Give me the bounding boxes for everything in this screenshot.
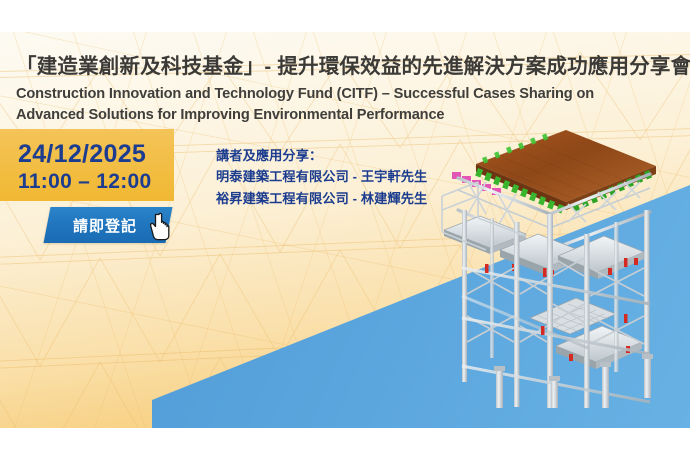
page-title-en-line1: Construction Innovation and Technology F… [16,84,671,105]
red-tag [608,268,612,275]
event-time: 11:00 – 12:00 [18,171,152,192]
top-white-band [0,0,690,32]
event-banner: 「建造業創新及科技基金」- 提升環保效益的先進解決方案成功應用分享會 Const… [0,0,690,460]
register-button[interactable] [44,207,173,243]
speakers-block: 講者及應用分享： 明泰建築工程有限公司 - 王宇軒先生 裕昇建築工程有限公司 -… [216,145,427,209]
page-title-en-line2: Advanced Solutions for Improving Environ… [16,105,671,126]
red-tag [634,258,638,265]
formwork-scaffolding-3d-render [438,118,690,408]
bottom-white-band [0,428,690,460]
timber-deck [476,130,656,210]
red-tag [569,354,573,361]
speaker-item: 明泰建築工程有限公司 - 王宇軒先生 [216,166,427,187]
title-block: 「建造業創新及科技基金」- 提升環保效益的先進解決方案成功應用分享會 Const… [16,54,671,126]
speakers-heading: 講者及應用分享： [216,145,427,166]
event-date: 24/12/2025 [18,142,146,167]
page-title-zh: 「建造業創新及科技基金」- 提升環保效益的先進解決方案成功應用分享會 [16,54,671,80]
page-title-en: Construction Innovation and Technology F… [16,84,671,125]
speaker-item: 裕昇建築工程有限公司 - 林建輝先生 [216,188,427,209]
